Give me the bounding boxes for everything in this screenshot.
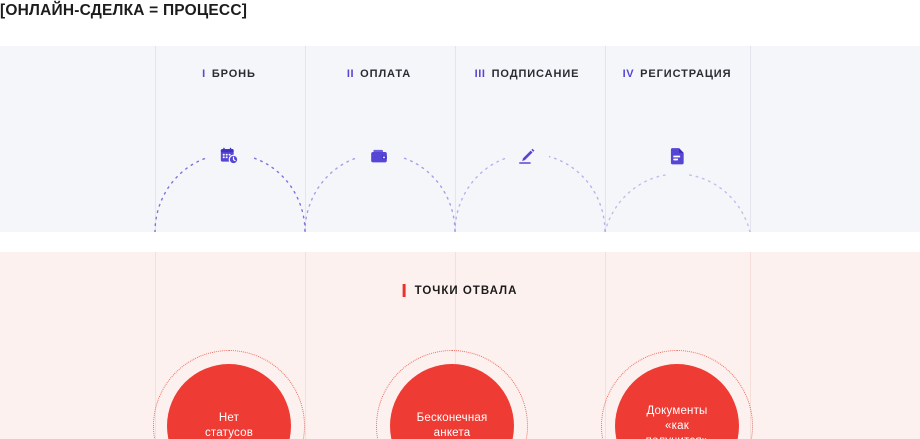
wallet-icon bbox=[369, 146, 389, 166]
step-numeral-4: IV bbox=[623, 68, 635, 80]
step-label-4[interactable]: IVРЕГИСТРАЦИЯ bbox=[623, 68, 732, 80]
step-numeral-1: I bbox=[202, 68, 206, 80]
dropoff-bubble-label-2: Бесконечнаяанкета bbox=[417, 411, 488, 439]
step-name-2: ОПЛАТА bbox=[360, 68, 411, 80]
dropoff-divider-2 bbox=[305, 252, 306, 439]
dropoff-band: НетстатусовБесконечнаяанкетаДокументы«ка… bbox=[0, 252, 920, 439]
dropoff-heading-marker-icon bbox=[403, 284, 406, 297]
step-name-1: БРОНЬ bbox=[212, 68, 256, 80]
process-infographic: [ОНЛАЙН-СДЕЛКА = ПРОЦЕСС] bbox=[0, 0, 920, 439]
step-label-1[interactable]: IБРОНЬ bbox=[202, 68, 256, 80]
step-name-4: РЕГИСТРАЦИЯ bbox=[640, 68, 731, 80]
process-divider-4 bbox=[605, 46, 606, 232]
calendar-clock-icon bbox=[219, 146, 239, 166]
process-divider-1 bbox=[155, 46, 156, 232]
page-title: [ОНЛАЙН-СДЕЛКА = ПРОЦЕСС] bbox=[0, 2, 247, 20]
step-node-1[interactable] bbox=[207, 134, 251, 178]
process-divider-5 bbox=[750, 46, 751, 232]
dropoff-bubble-label-1: Нетстатусов bbox=[205, 411, 253, 439]
step-node-2[interactable] bbox=[357, 134, 401, 178]
step-name-3: ПОДПИСАНИЕ bbox=[492, 68, 580, 80]
step-label-2[interactable]: IIОПЛАТА bbox=[347, 68, 411, 80]
dropoff-heading: ТОЧКИ ОТВАЛА bbox=[403, 284, 518, 297]
process-arc-curves bbox=[0, 46, 920, 232]
document-icon bbox=[667, 146, 687, 166]
step-node-4[interactable] bbox=[655, 134, 699, 178]
step-node-3[interactable] bbox=[505, 134, 549, 178]
process-divider-3 bbox=[455, 46, 456, 232]
step-numeral-3: III bbox=[475, 68, 486, 80]
process-divider-2 bbox=[305, 46, 306, 232]
process-band bbox=[0, 46, 920, 232]
pen-signature-icon bbox=[517, 146, 537, 166]
step-label-3[interactable]: IIIПОДПИСАНИЕ bbox=[475, 68, 580, 80]
dropoff-heading-label: ТОЧКИ ОТВАЛА bbox=[415, 285, 518, 297]
dropoff-bubble-label-3: Документы«какполучится» bbox=[646, 404, 709, 439]
step-numeral-2: II bbox=[347, 68, 354, 80]
